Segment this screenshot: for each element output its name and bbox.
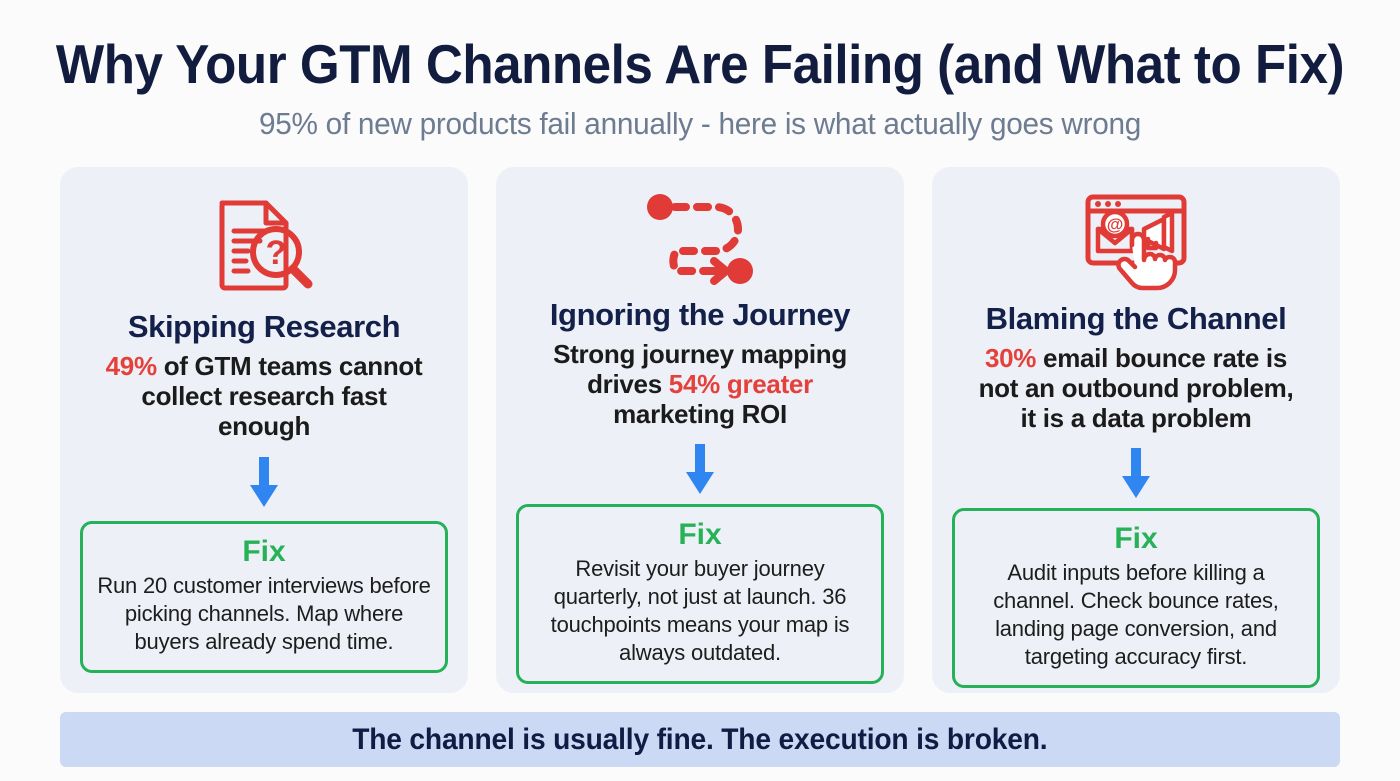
svg-text:?: ?	[266, 234, 287, 272]
down-arrow-icon	[247, 456, 281, 508]
infographic-page: Why Your GTM Channels Are Failing (and W…	[0, 0, 1400, 781]
fix-box: Fix Run 20 customer interviews before pi…	[80, 521, 448, 673]
document-magnifier-question-icon: ?	[212, 191, 316, 299]
card-title: Blaming the Channel	[986, 301, 1287, 337]
card-skipping-research: ? Skipping Research 49% of GTM teams can…	[60, 167, 468, 693]
stat-suffix: marketing ROI	[613, 399, 787, 429]
card-stat: 30% email bounce rate is not an outbound…	[976, 343, 1296, 434]
stat-suffix: of GTM teams cannot collect research fas…	[141, 351, 422, 442]
svg-text:@: @	[1107, 215, 1124, 234]
fix-label: Fix	[95, 534, 433, 570]
card-stat: 49% of GTM teams cannot collect research…	[104, 351, 424, 442]
fix-label: Fix	[967, 521, 1305, 557]
down-arrow-icon	[1119, 448, 1153, 498]
fix-box: Fix Revisit your buyer journey quarterly…	[516, 504, 884, 685]
card-ignoring-the-journey: Ignoring the Journey Strong journey mapp…	[496, 167, 904, 693]
card-title: Skipping Research	[128, 309, 400, 345]
stat-highlight: 49%	[106, 351, 157, 381]
browser-email-megaphone-click-icon: @	[1080, 191, 1192, 291]
stat-highlight: 30%	[985, 343, 1036, 373]
card-title: Ignoring the Journey	[550, 297, 850, 333]
page-header: Why Your GTM Channels Are Failing (and W…	[0, 0, 1400, 142]
card-row: ? Skipping Research 49% of GTM teams can…	[60, 167, 1340, 693]
card-blaming-the-channel: @ Blaming the Channel 30% email bounce r…	[932, 167, 1340, 693]
dashed-journey-path-icon	[644, 191, 756, 287]
fix-text: Revisit your buyer journey quarterly, no…	[531, 555, 869, 668]
fix-label: Fix	[531, 517, 869, 553]
footer-banner-text: The channel is usually fine. The executi…	[352, 723, 1047, 757]
fix-text: Run 20 customer interviews before pickin…	[95, 572, 433, 656]
page-subtitle: 95% of new products fail annually - here…	[28, 106, 1372, 142]
fix-box: Fix Audit inputs before killing a channe…	[952, 508, 1320, 689]
page-title: Why Your GTM Channels Are Failing (and W…	[49, 36, 1351, 94]
card-stat: Strong journey mapping drives 54% greate…	[540, 339, 860, 430]
fix-text: Audit inputs before killing a channel. C…	[967, 559, 1305, 672]
stat-highlight: 54% greater	[669, 369, 813, 399]
footer-banner: The channel is usually fine. The executi…	[60, 712, 1340, 767]
down-arrow-icon	[683, 444, 717, 494]
